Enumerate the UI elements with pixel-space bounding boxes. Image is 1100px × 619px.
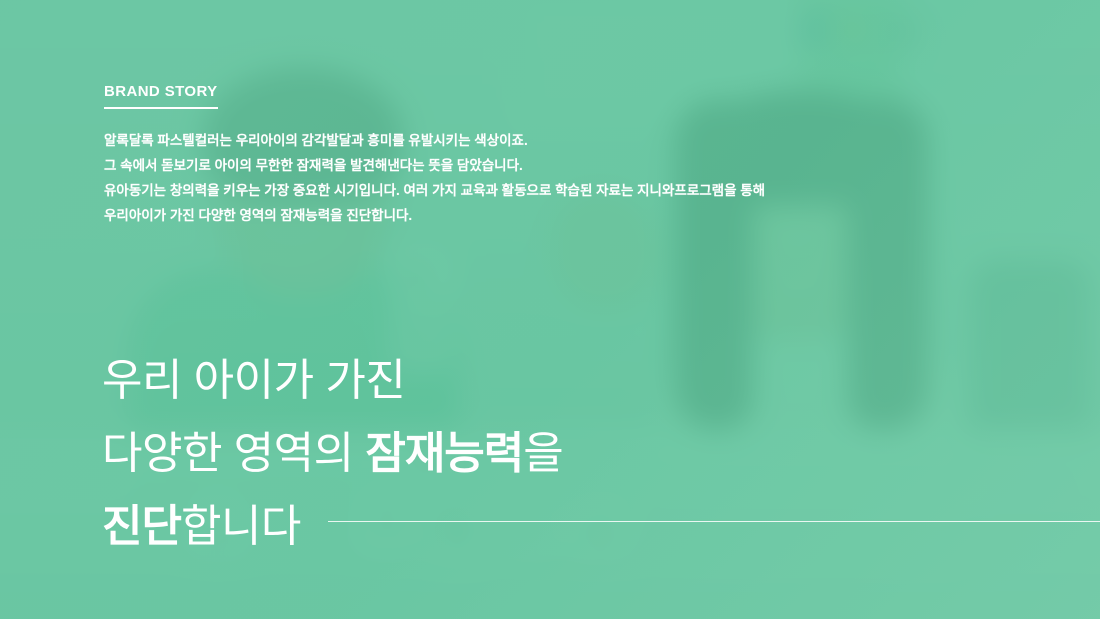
headline-line-3: 진단합니다 — [102, 490, 563, 563]
headline-line-1: 우리 아이가 가진 — [102, 344, 563, 417]
headline-line-2-suffix: 을 — [523, 429, 563, 478]
body-copy-line-1: 알록달록 파스텔컬러는 우리아이의 감각발달과 흥미를 유발시키는 색상이죠. — [104, 128, 765, 153]
body-copy: 알록달록 파스텔컬러는 우리아이의 감각발달과 흥미를 유발시키는 색상이죠. … — [104, 128, 765, 228]
headline-line-2-prefix: 다양한 영역의 — [102, 429, 365, 478]
headline-divider-rule — [328, 521, 1100, 522]
headline-line-3-suffix: 합니다 — [181, 502, 301, 551]
headline-line-3-emphasis: 진단 — [102, 502, 181, 551]
section-eyebrow-label: BRAND STORY — [104, 84, 218, 109]
headline-line-2-emphasis: 잠재능력 — [365, 429, 523, 478]
body-copy-line-4: 우리아이가 가진 다양한 영역의 잠재능력을 진단합니다. — [104, 203, 765, 228]
body-copy-line-2: 그 속에서 돋보기로 아이의 무한한 잠재력을 발견해낸다는 뜻을 담았습니다. — [104, 153, 765, 178]
slide-content: BRAND STORY 알록달록 파스텔컬러는 우리아이의 감각발달과 흥미를 … — [0, 0, 1100, 619]
body-copy-line-3: 유아동기는 창의력을 키우는 가장 중요한 시기입니다. 여러 가지 교육과 활… — [104, 178, 765, 203]
brand-story-slide: YE6TR2oC BRAND STORY 알록달록 파스텔컬러는 우리아이의 감… — [0, 0, 1100, 619]
headline-line-2: 다양한 영역의 잠재능력을 — [102, 417, 563, 490]
headline: 우리 아이가 가진 다양한 영역의 잠재능력을 진단합니다 — [102, 344, 563, 563]
